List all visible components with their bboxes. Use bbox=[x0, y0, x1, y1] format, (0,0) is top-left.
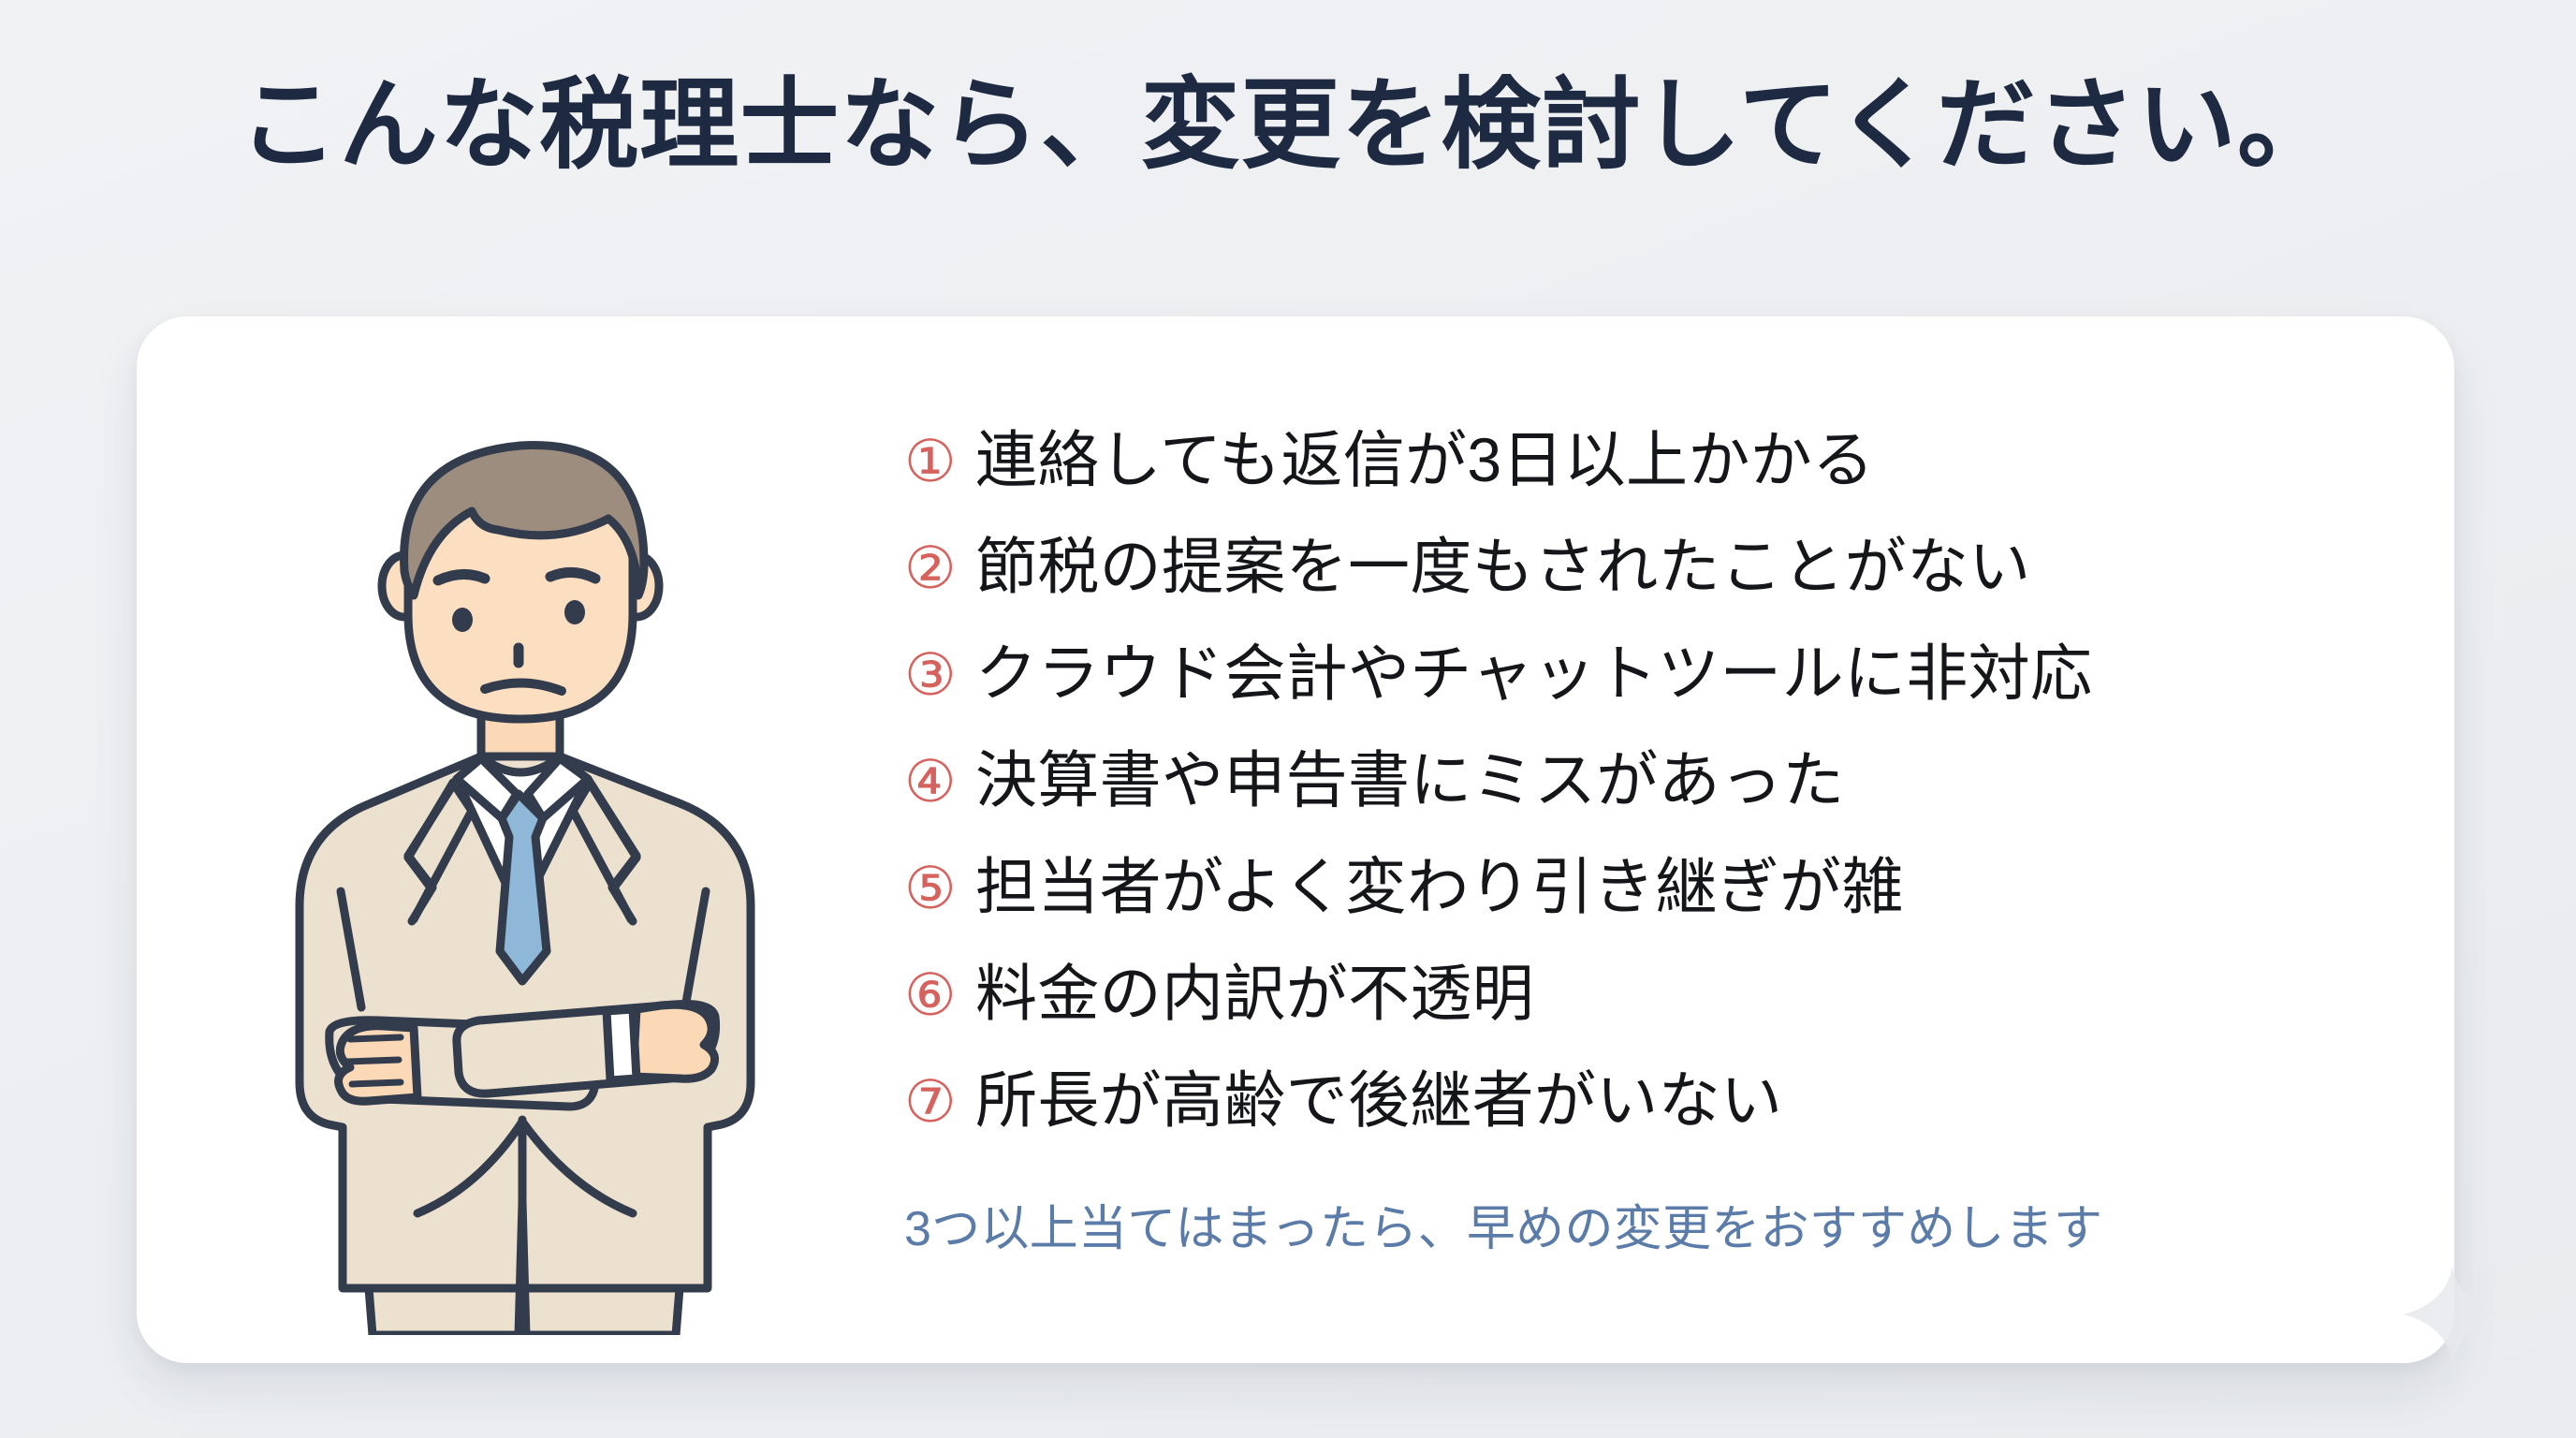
list-item-text-5: 担当者がよく変わり引き継ぎが雑 bbox=[975, 853, 1904, 921]
list-marker-6: ⑥ bbox=[904, 962, 975, 1024]
list-marker-5: ⑤ bbox=[904, 856, 975, 917]
list-marker-3: ③ bbox=[904, 642, 975, 704]
page-title: こんな税理士なら、変更を検討してください。 bbox=[0, 67, 2576, 184]
slide-canvas: こんな税理士なら、変更を検討してください。 bbox=[0, 0, 2576, 1438]
list-item-text-7: 所長が高齢で後継者がいない bbox=[975, 1066, 1782, 1135]
checklist: ① 連絡しても返信が3日以上かかる ② 節税の提案を一度もされたことがない ③ … bbox=[904, 406, 2454, 1153]
list-item: ④ 決算書や申告書にミスがあった bbox=[904, 726, 2454, 833]
list-item: ① 連絡しても返信が3日以上かかる bbox=[904, 406, 2454, 513]
list-item-text-2: 節税の提案を一度もされたことがない bbox=[975, 533, 2031, 601]
list-item-text-1: 連絡しても返信が3日以上かかる bbox=[975, 426, 1874, 494]
worried-businessman-illustration bbox=[221, 371, 820, 1335]
illustration-panel bbox=[137, 316, 904, 1363]
list-item: ⑤ 担当者がよく変わり引き継ぎが雑 bbox=[904, 833, 2454, 940]
list-item-text-4: 決算書や申告書にミスがあった bbox=[975, 746, 1845, 814]
list-item: ⑦ 所長が高齢で後継者がいない bbox=[904, 1047, 2454, 1153]
list-item-text-6: 料金の内訳が不透明 bbox=[975, 960, 1534, 1028]
list-marker-2: ② bbox=[904, 536, 975, 597]
list-marker-4: ④ bbox=[904, 749, 975, 811]
list-item-text-3: クラウド会計やチャットツールに非対応 bbox=[975, 639, 2092, 708]
list-item: ⑥ 料金の内訳が不透明 bbox=[904, 940, 2454, 1047]
list-marker-1: ① bbox=[904, 429, 975, 491]
list-item: ③ クラウド会計やチャットツールに非対応 bbox=[904, 620, 2454, 726]
footnote-text: 3つ以上当てはまったら、早めの変更をおすすめします bbox=[904, 1200, 2454, 1258]
list-item: ② 節税の提案を一度もされたことがない bbox=[904, 513, 2454, 620]
content-card: ① 連絡しても返信が3日以上かかる ② 節税の提案を一度もされたことがない ③ … bbox=[137, 316, 2454, 1363]
checklist-panel: ① 連絡しても返信が3日以上かかる ② 節税の提案を一度もされたことがない ③ … bbox=[904, 316, 2454, 1363]
list-marker-7: ⑦ bbox=[904, 1069, 975, 1131]
